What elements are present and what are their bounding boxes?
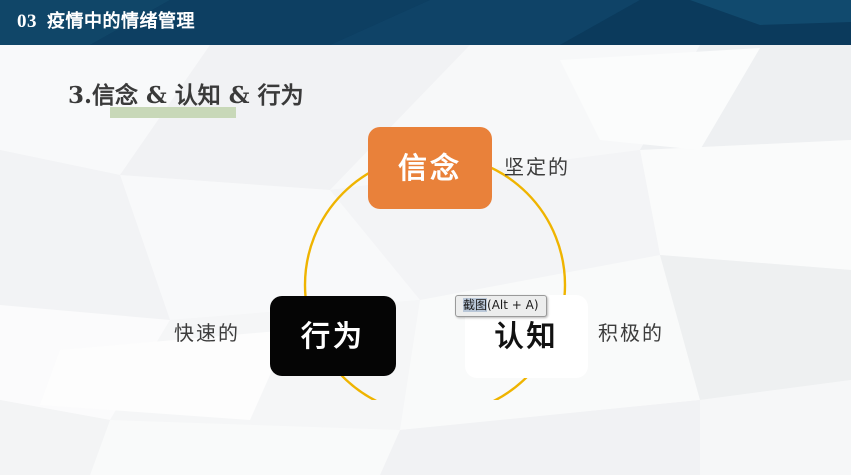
caption-behavior: 快速的 [174,320,240,346]
slide-header-bar: 03疫情中的情绪管理 [0,0,851,45]
slide-canvas: 03疫情中的情绪管理 3.信念 & 认知 & 行为 信念 行为 认知 坚定的 快… [0,0,851,475]
screenshot-tooltip-shortcut: (Alt + A) [487,298,539,312]
node-behavior-label: 行为 [301,322,365,351]
subtitle-text: 3.信念 & 认知 & 行为 [68,80,304,112]
screenshot-tooltip: 截图(Alt + A) [455,295,547,317]
node-behavior[interactable]: 行为 [270,296,396,376]
node-cognition-label: 认知 [494,322,558,351]
caption-cognition: 积极的 [598,320,664,346]
node-belief-label: 信念 [398,154,462,183]
page-title: 疫情中的情绪管理 [47,11,195,32]
header-section-number: 03 [17,11,37,32]
subtitle-group: 3.信念 & 认知 & 行为 [68,80,304,112]
caption-belief: 坚定的 [504,154,570,180]
header-title-group: 03疫情中的情绪管理 [17,8,195,36]
node-belief[interactable]: 信念 [368,127,492,209]
screenshot-tooltip-label: 截图 [463,298,487,312]
